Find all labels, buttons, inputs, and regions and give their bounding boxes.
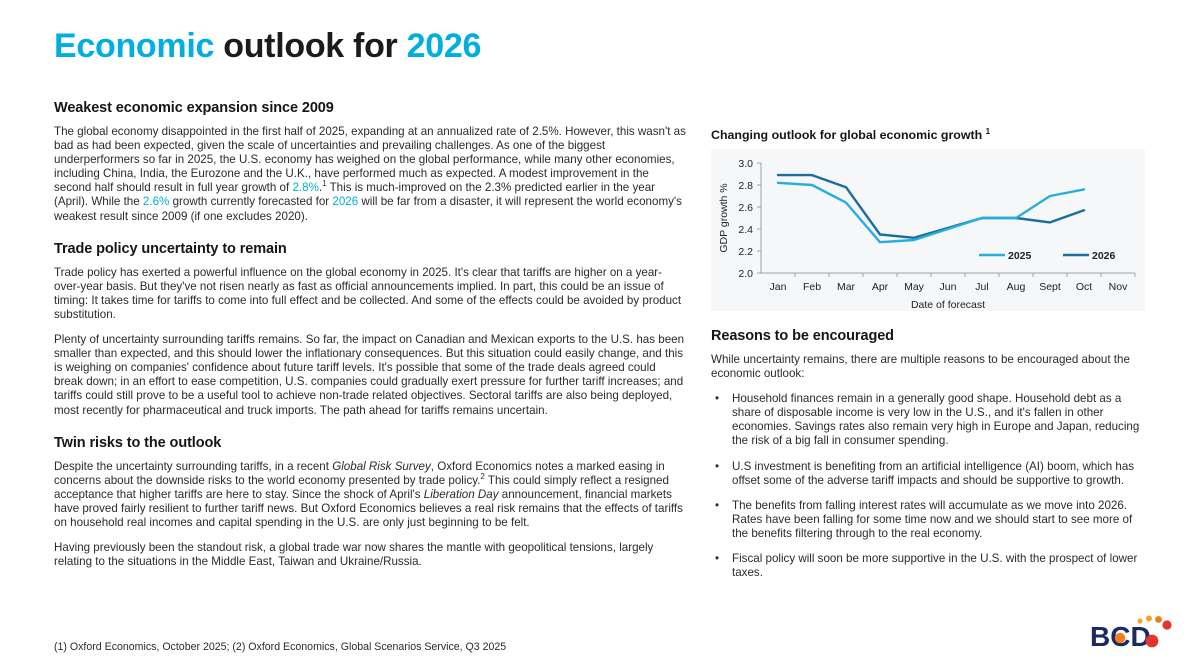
highlight-value: 2.8% xyxy=(292,181,318,194)
bullet-marker-icon: • xyxy=(715,392,719,406)
logo-dot-4 xyxy=(1162,620,1171,629)
text-run: Plenty of uncertainty surrounding tariff… xyxy=(54,333,684,416)
list-item: •Household finances remain in a generall… xyxy=(711,392,1145,448)
section-heading-trade-policy: Trade policy uncertainty to remain xyxy=(54,241,686,257)
y-tick-label: 2.6 xyxy=(738,202,753,214)
page-title-part3: 2026 xyxy=(407,27,481,65)
section-heading-reasons-encouraged: Reasons to be encouraged xyxy=(711,328,1145,344)
y-tick-label: 2.2 xyxy=(738,246,753,258)
list-item-text: The benefits from falling interest rates… xyxy=(732,499,1132,540)
legend-label-2025: 2025 xyxy=(1008,250,1032,262)
y-tick-label: 2.4 xyxy=(738,224,753,236)
paragraph-global-economy: The global economy disappointed in the f… xyxy=(54,125,686,224)
x-tick-label: Oct xyxy=(1076,281,1092,293)
page-title: Economic outlook for 2026 xyxy=(54,27,481,66)
list-item: •U.S investment is benefiting from an ar… xyxy=(711,460,1145,488)
chart-title-text: Changing outlook for global economic gro… xyxy=(711,128,986,142)
x-tick-label: Jan xyxy=(770,281,787,293)
list-item-text: U.S investment is benefiting from an art… xyxy=(732,460,1134,487)
left-column: Weakest economic expansion since 2009 Th… xyxy=(54,100,686,569)
x-tick-label: Sept xyxy=(1039,281,1061,293)
text-run: Trade policy has exerted a powerful infl… xyxy=(54,266,681,321)
right-column: Changing outlook for global economic gro… xyxy=(711,128,1145,580)
list-item: •The benefits from falling interest rate… xyxy=(711,499,1145,541)
y-tick-label: 3.0 xyxy=(738,158,753,170)
logo-dot-1 xyxy=(1137,618,1142,623)
highlight-value: 2.6% xyxy=(143,195,169,208)
text-run: growth currently forecasted for xyxy=(169,195,332,208)
series-line-2026 xyxy=(778,175,1084,238)
highlight-value: 2026 xyxy=(332,195,358,208)
x-tick-label: Feb xyxy=(803,281,821,293)
paragraph-trade-policy-2: Plenty of uncertainty surrounding tariff… xyxy=(54,333,686,418)
y-tick-label: 2.8 xyxy=(738,180,753,192)
section-heading-twin-risks: Twin risks to the outlook xyxy=(54,435,686,451)
list-item-text: Household finances remain in a generally… xyxy=(732,392,1139,447)
list-item-text: Fiscal policy will soon be more supporti… xyxy=(732,552,1137,579)
text-run: Despite the uncertainty surrounding tari… xyxy=(54,460,332,473)
y-axis-label: GDP growth % xyxy=(718,183,730,252)
section-heading-weakest-expansion: Weakest economic expansion since 2009 xyxy=(54,100,686,116)
text-run: Having previously been the standout risk… xyxy=(54,541,653,568)
italic-title: Liberation Day xyxy=(424,488,499,501)
paragraph-reasons-intro: While uncertainty remains, there are mul… xyxy=(711,353,1145,381)
x-tick-label: Mar xyxy=(837,281,856,293)
bcd-logo-svg: BCD xyxy=(1090,613,1176,657)
reasons-bullet-list: •Household finances remain in a generall… xyxy=(711,392,1145,580)
page-title-part2: outlook for xyxy=(223,27,397,65)
line-chart: 2.02.22.42.62.83.0JanFebMarAprMayJunJulA… xyxy=(711,149,1145,311)
chart-title: Changing outlook for global economic gro… xyxy=(711,128,1145,142)
x-tick-label: May xyxy=(904,281,925,293)
bullet-marker-icon: • xyxy=(715,499,719,513)
bullet-marker-icon: • xyxy=(715,460,719,474)
series-line-2025 xyxy=(778,183,1084,242)
logo-dot-3 xyxy=(1155,616,1162,623)
slide-page: Economic outlook for 2026 Weakest econom… xyxy=(0,0,1190,669)
bullet-marker-icon: • xyxy=(715,552,719,566)
footnote-sources: (1) Oxford Economics, October 2025; (2) … xyxy=(54,641,506,653)
paragraph-trade-policy-1: Trade policy has exerted a powerful infl… xyxy=(54,266,686,322)
x-tick-label: Nov xyxy=(1109,281,1128,293)
y-tick-label: 2.0 xyxy=(738,268,753,280)
x-axis-label: Date of forecast xyxy=(911,299,985,311)
x-tick-label: Apr xyxy=(872,281,889,293)
logo-dot-c-orange xyxy=(1115,633,1125,643)
italic-title: Global Risk Survey xyxy=(332,460,431,473)
x-tick-label: Jul xyxy=(975,281,988,293)
paragraph-twin-risks-2: Having previously been the standout risk… xyxy=(54,541,686,569)
paragraph-twin-risks-1: Despite the uncertainty surrounding tari… xyxy=(54,460,686,530)
legend-label-2026: 2026 xyxy=(1092,250,1116,262)
bcd-logo: BCD xyxy=(1090,613,1176,657)
x-tick-label: Aug xyxy=(1007,281,1026,293)
x-tick-label: Jun xyxy=(940,281,957,293)
logo-dot-2 xyxy=(1146,616,1152,622)
page-title-part1: Economic xyxy=(54,27,214,65)
logo-dot-5 xyxy=(1146,635,1159,648)
chart-title-footnote-ref: 1 xyxy=(986,127,990,136)
list-item: •Fiscal policy will soon be more support… xyxy=(711,552,1145,580)
chart-panel: 2.02.22.42.62.83.0JanFebMarAprMayJunJulA… xyxy=(711,149,1145,311)
